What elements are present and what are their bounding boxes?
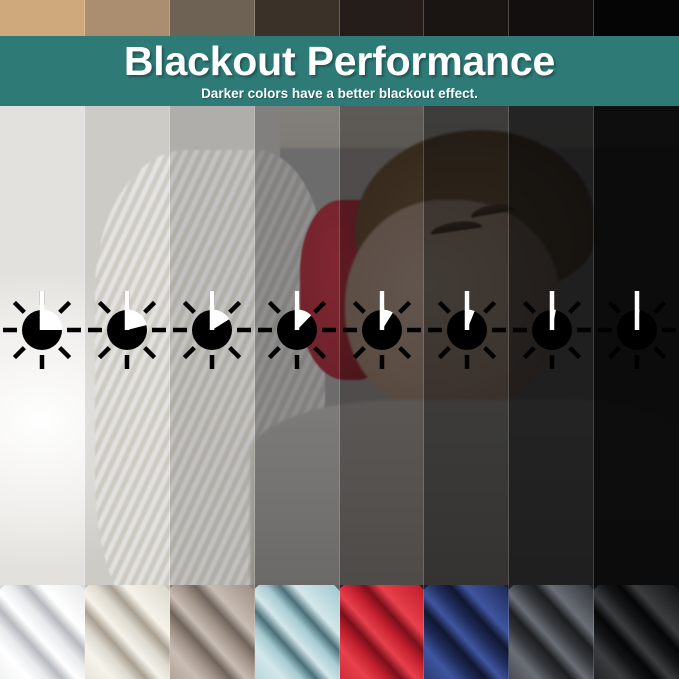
fabric-swatch-black: [594, 585, 679, 679]
header-banner: Blackout Performance Darker colors have …: [0, 36, 679, 106]
top-swatch-red: [340, 0, 425, 36]
brightness-dial-cell-4: [255, 288, 340, 372]
swatch-body: [340, 605, 425, 679]
brightness-dial-cell-7: [509, 288, 594, 372]
page-title: Blackout Performance: [124, 41, 555, 82]
fabric-swatch-charcoal: [509, 585, 594, 679]
brightness-dial-icon: [0, 288, 84, 372]
swatch-body: [85, 605, 170, 679]
brightness-dial-cell-5: [340, 288, 425, 372]
swatch-body: [255, 605, 340, 679]
infographic-stage: Blackout Performance Darker colors have …: [0, 0, 679, 679]
fabric-swatch-ivory: [85, 585, 170, 679]
fabric-swatch-red: [340, 585, 425, 679]
brightness-dial-icon: [170, 288, 254, 372]
swatch-body: [0, 605, 85, 679]
brightness-dial-cell-8: [594, 288, 679, 372]
top-swatch-navy: [424, 0, 509, 36]
fabric-swatch-taupe: [170, 585, 255, 679]
swatch-body: [424, 605, 509, 679]
brightness-dial-cell-2: [85, 288, 170, 372]
top-swatch-ivory: [85, 0, 170, 36]
brightness-dial-icon: [255, 288, 339, 372]
fabric-swatch-strip: [0, 585, 679, 679]
top-color-strip: [0, 0, 679, 36]
page-subtitle: Darker colors have a better blackout eff…: [201, 86, 478, 101]
swatch-fold-highlight: [0, 585, 85, 679]
swatch-fold-highlight: [340, 585, 425, 679]
top-swatch-lightblue: [255, 0, 340, 36]
swatch-body: [594, 605, 679, 679]
top-swatch-taupe: [170, 0, 255, 36]
swatch-fold-highlight: [594, 585, 679, 679]
swatch-body: [170, 605, 255, 679]
brightness-dial-icon: [340, 288, 424, 372]
fabric-swatch-light-blue: [255, 585, 340, 679]
brightness-dial-icon: [510, 288, 594, 372]
swatch-fold-highlight: [170, 585, 255, 679]
swatch-fold-highlight: [85, 585, 170, 679]
top-swatch-white: [0, 0, 85, 36]
brightness-dial-icon: [85, 288, 169, 372]
brightness-dial-cell-1: [0, 288, 85, 372]
top-swatch-black: [594, 0, 679, 36]
swatch-fold-highlight: [509, 585, 594, 679]
top-swatch-charcoal: [509, 0, 594, 36]
fabric-swatch-navy: [424, 585, 509, 679]
swatch-fold-highlight: [424, 585, 509, 679]
brightness-dial-icon: [425, 288, 509, 372]
brightness-dial-icon: [595, 288, 679, 372]
brightness-icon-row: [0, 288, 679, 372]
brightness-dial-cell-3: [170, 288, 255, 372]
swatch-fold-highlight: [255, 585, 340, 679]
swatch-body: [509, 605, 594, 679]
fabric-swatch-white: [0, 585, 85, 679]
brightness-dial-cell-6: [424, 288, 509, 372]
